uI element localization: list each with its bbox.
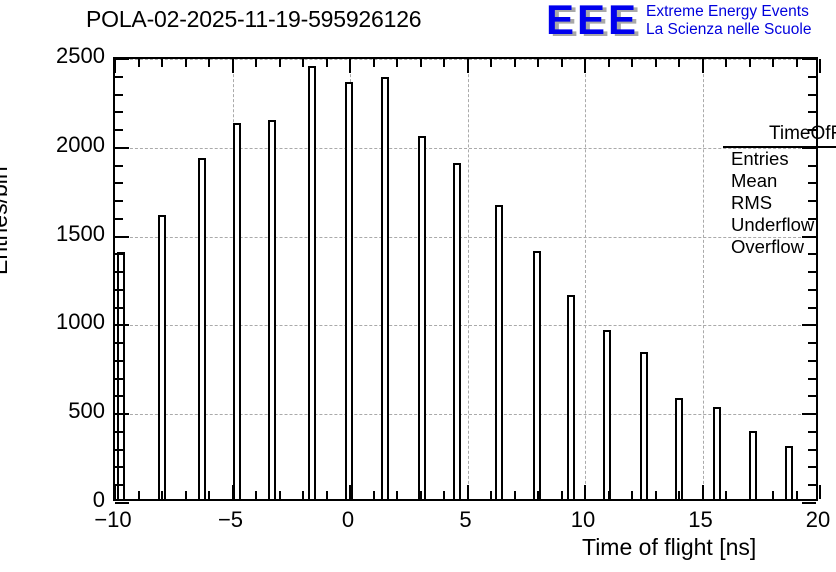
y-tick-minor <box>115 76 123 78</box>
x-tick-minor-top <box>631 59 633 67</box>
eee-letter-3-fore: E <box>608 3 635 37</box>
x-tick-major-top <box>702 59 704 73</box>
x-tick-major <box>114 485 116 499</box>
stats-row: Mean1.49 <box>723 170 836 192</box>
y-tick-minor <box>115 182 123 184</box>
eee-letter-1-fore: E <box>546 3 573 37</box>
histogram-bar <box>453 163 461 499</box>
x-tick-minor <box>161 491 163 499</box>
stats-row-key: Mean <box>731 170 777 192</box>
y-tick-major-right <box>802 58 816 60</box>
stats-row: Underflow6724 <box>723 214 836 236</box>
y-tick-minor <box>115 360 123 362</box>
y-tick-minor-right <box>808 342 816 344</box>
y-tick-minor <box>115 289 123 291</box>
x-tick-label: 10 <box>543 507 623 533</box>
y-tick-minor-right <box>808 484 816 486</box>
histogram-bar <box>268 120 276 499</box>
y-tick-minor-right <box>808 378 816 380</box>
x-tick-minor <box>373 491 375 499</box>
x-tick-major-top <box>467 59 469 73</box>
y-tick-label: 1500 <box>5 221 105 247</box>
y-tick-minor <box>115 342 123 344</box>
x-tick-minor-top <box>302 59 304 67</box>
y-tick-minor-right <box>808 431 816 433</box>
x-tick-minor-top <box>749 59 751 67</box>
y-tick-minor-right <box>808 76 816 78</box>
x-tick-label: −5 <box>191 507 271 533</box>
page-title: POLA-02-2025-11-19-595926126 <box>86 6 421 33</box>
x-tick-label: 0 <box>308 507 388 533</box>
x-tick-minor-top <box>608 59 610 67</box>
y-tick-major-right <box>802 324 816 326</box>
stats-row: Entries35776 <box>723 148 836 170</box>
x-tick-major <box>467 485 469 499</box>
plot-area <box>115 59 816 499</box>
x-tick-major-top <box>232 59 234 73</box>
x-tick-minor <box>326 491 328 499</box>
stats-box-rows: Entries35776Mean1.49RMS6.861Underflow672… <box>723 148 836 258</box>
y-tick-minor-right <box>808 466 816 468</box>
gridline-horizontal <box>115 59 816 60</box>
x-tick-minor-top <box>208 59 210 67</box>
x-tick-minor <box>443 491 445 499</box>
histogram-bar <box>233 123 241 499</box>
x-tick-minor <box>279 491 281 499</box>
x-tick-minor <box>631 491 633 499</box>
y-tick-major-right <box>802 413 816 415</box>
x-tick-minor <box>608 491 610 499</box>
x-tick-minor-top <box>255 59 257 67</box>
x-tick-minor <box>208 491 210 499</box>
x-tick-minor <box>302 491 304 499</box>
x-tick-minor-top <box>138 59 140 67</box>
x-tick-major <box>584 485 586 499</box>
eee-logo-line-2: La Scienza nelle Scuole <box>646 21 811 39</box>
x-tick-minor-top <box>561 59 563 67</box>
x-tick-minor <box>537 491 539 499</box>
y-tick-minor <box>115 271 123 273</box>
x-tick-label: 5 <box>426 507 506 533</box>
gridline-vertical <box>703 59 704 499</box>
y-tick-minor <box>115 218 123 220</box>
stats-box: TimeOfFlight Entries35776Mean1.49RMS6.86… <box>723 123 836 258</box>
x-tick-minor <box>514 491 516 499</box>
y-tick-minor <box>115 129 123 131</box>
y-tick-label: 2000 <box>5 132 105 158</box>
histogram-bar <box>381 77 389 499</box>
x-tick-label: 20 <box>778 507 836 533</box>
y-tick-minor <box>115 253 123 255</box>
stats-row-key: Underflow <box>731 214 814 236</box>
eee-letter-2-icon: E E <box>577 3 604 37</box>
y-tick-label: 500 <box>5 398 105 424</box>
y-tick-minor <box>115 431 123 433</box>
x-tick-minor <box>490 491 492 499</box>
x-tick-minor <box>749 491 751 499</box>
root-canvas: POLA-02-2025-11-19-595926126 E E E E E E… <box>0 0 836 572</box>
y-tick-minor <box>115 200 123 202</box>
y-tick-major <box>115 413 129 415</box>
x-tick-minor <box>420 491 422 499</box>
y-tick-minor-right <box>808 289 816 291</box>
x-tick-major-top <box>349 59 351 73</box>
histogram-bar <box>308 66 316 499</box>
stats-row: RMS6.861 <box>723 192 836 214</box>
gridline-horizontal <box>115 148 816 149</box>
eee-letter-1-icon: E E <box>546 3 573 37</box>
histogram-bar <box>533 251 541 499</box>
x-tick-minor-top <box>326 59 328 67</box>
eee-logo-line-1: Extreme Energy Events <box>646 3 811 21</box>
histogram-bar <box>749 431 757 499</box>
y-tick-major <box>115 324 129 326</box>
histogram-bar <box>675 398 683 499</box>
x-tick-minor <box>255 491 257 499</box>
x-tick-minor <box>796 491 798 499</box>
gridline-vertical <box>468 59 469 499</box>
x-tick-minor-top <box>420 59 422 67</box>
x-tick-major <box>232 485 234 499</box>
x-tick-minor-top <box>373 59 375 67</box>
y-tick-minor <box>115 449 123 451</box>
gridline-horizontal <box>115 237 816 238</box>
histogram-bar <box>198 158 206 499</box>
y-tick-minor <box>115 395 123 397</box>
histogram-bar <box>158 215 166 499</box>
x-tick-minor-top <box>396 59 398 67</box>
y-tick-minor-right <box>808 94 816 96</box>
stats-row-key: RMS <box>731 192 772 214</box>
x-tick-minor <box>725 491 727 499</box>
stats-row: Overflow1101 <box>723 236 836 258</box>
x-tick-label: −10 <box>73 507 153 533</box>
eee-logo-text: Extreme Energy Events La Scienza nelle S… <box>646 3 811 39</box>
plot-frame: TimeOfFlight Entries35776Mean1.49RMS6.86… <box>113 57 818 501</box>
y-tick-major <box>115 502 129 504</box>
x-tick-label: 15 <box>661 507 741 533</box>
y-tick-minor-right <box>808 449 816 451</box>
x-tick-minor-top <box>678 59 680 67</box>
y-tick-minor <box>115 165 123 167</box>
histogram-bar <box>567 295 575 499</box>
gridline-vertical <box>585 59 586 499</box>
eee-letter-2-fore: E <box>577 3 604 37</box>
x-tick-minor <box>185 491 187 499</box>
x-tick-minor <box>138 491 140 499</box>
x-tick-major <box>702 485 704 499</box>
x-tick-minor-top <box>185 59 187 67</box>
x-tick-major-top <box>819 59 821 73</box>
histogram-bar <box>713 407 721 499</box>
gridline-horizontal <box>115 325 816 326</box>
y-tick-minor <box>115 466 123 468</box>
x-tick-minor-top <box>725 59 727 67</box>
x-tick-minor <box>561 491 563 499</box>
y-tick-minor-right <box>808 307 816 309</box>
y-tick-minor-right <box>808 360 816 362</box>
stats-box-title: TimeOfFlight <box>723 123 836 148</box>
x-tick-minor-top <box>490 59 492 67</box>
histogram-bar <box>345 82 353 499</box>
y-tick-major <box>115 58 129 60</box>
histogram-bar <box>785 446 793 499</box>
y-tick-minor <box>115 94 123 96</box>
x-tick-major <box>819 485 821 499</box>
x-tick-minor-top <box>655 59 657 67</box>
y-tick-major <box>115 147 129 149</box>
y-tick-label: 1000 <box>5 309 105 335</box>
stats-row-key: Overflow <box>731 236 804 258</box>
x-tick-minor-top <box>796 59 798 67</box>
gridline-horizontal <box>115 414 816 415</box>
y-tick-minor <box>115 378 123 380</box>
x-tick-minor-top <box>772 59 774 67</box>
y-tick-minor <box>115 307 123 309</box>
y-tick-major <box>115 236 129 238</box>
x-tick-minor-top <box>537 59 539 67</box>
x-tick-minor <box>678 491 680 499</box>
x-tick-minor <box>396 491 398 499</box>
y-tick-minor <box>115 484 123 486</box>
x-tick-minor-top <box>279 59 281 67</box>
x-tick-major-top <box>114 59 116 73</box>
histogram-bar <box>418 136 426 499</box>
eee-letter-3-icon: E E <box>608 3 635 37</box>
y-tick-minor-right <box>808 395 816 397</box>
y-tick-minor <box>115 111 123 113</box>
x-tick-major <box>349 485 351 499</box>
eee-logo-mark: E E E E E E <box>546 3 642 39</box>
y-tick-major-right <box>802 502 816 504</box>
y-tick-minor-right <box>808 111 816 113</box>
histogram-bar <box>495 205 503 499</box>
x-axis-title: Time of flight [ns] <box>582 534 756 561</box>
y-tick-label: 2500 <box>5 43 105 69</box>
x-tick-major-top <box>584 59 586 73</box>
y-tick-minor-right <box>808 271 816 273</box>
x-tick-minor-top <box>443 59 445 67</box>
x-tick-minor-top <box>161 59 163 67</box>
x-tick-minor <box>655 491 657 499</box>
x-tick-minor <box>772 491 774 499</box>
histogram-bar <box>603 330 611 499</box>
stats-row-key: Entries <box>731 148 789 170</box>
eee-logo: E E E E E E Extreme Energy Events La Sci… <box>546 2 834 42</box>
x-tick-minor-top <box>514 59 516 67</box>
histogram-bar <box>640 352 648 499</box>
